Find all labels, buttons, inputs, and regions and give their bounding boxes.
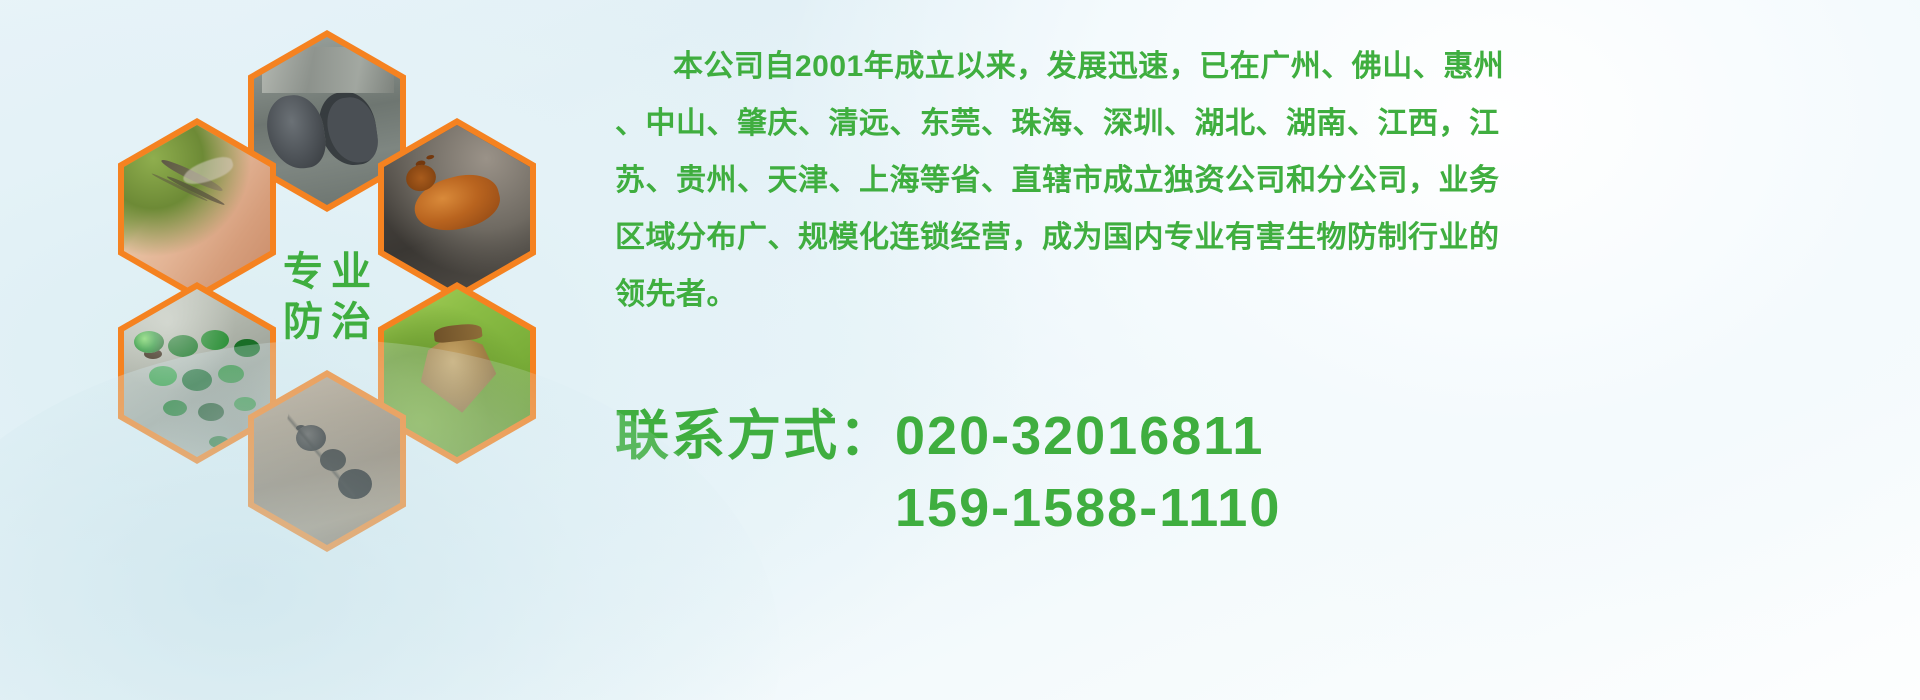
ant-photo bbox=[254, 377, 400, 545]
company-intro-paragraph: 本公司自2001年成立以来，发展迅速，已在广州、佛山、惠州 、中山、肇庆、清远、… bbox=[615, 38, 1905, 323]
contact-secondary-phone[interactable]: 159-1588-1110 bbox=[615, 472, 1615, 544]
intro-line-3: 苏、贵州、天津、上海等省、直辖市成立独资公司和分公司，业务 bbox=[615, 152, 1905, 209]
intro-line-5: 领先者。 bbox=[615, 266, 1905, 323]
intro-line-1: 本公司自2001年成立以来，发展迅速，已在广州、佛山、惠州 bbox=[615, 38, 1905, 95]
banner-root: 专业 防治 本公司自2001年成立以来，发展迅速，已在广州、佛山、惠州 、中山、… bbox=[0, 0, 1920, 700]
hex-image-frame bbox=[254, 377, 400, 545]
hex-photo-cluster: 专业 防治 bbox=[80, 10, 600, 570]
intro-line-4: 区域分布广、规模化连锁经营，成为国内专业有害生物防制行业的 bbox=[615, 209, 1905, 266]
center-label-line-2: 防治 bbox=[275, 302, 379, 342]
contact-block: 联系方式：020-32016811 159-1588-1110 bbox=[615, 400, 1615, 544]
intro-line-2: 、中山、肇庆、清远、东莞、珠海、深圳、湖北、湖南、江西，江 bbox=[615, 95, 1905, 152]
contact-primary-phone[interactable]: 联系方式：020-32016811 bbox=[615, 400, 1615, 472]
center-label-line-1: 专业 bbox=[275, 252, 379, 292]
